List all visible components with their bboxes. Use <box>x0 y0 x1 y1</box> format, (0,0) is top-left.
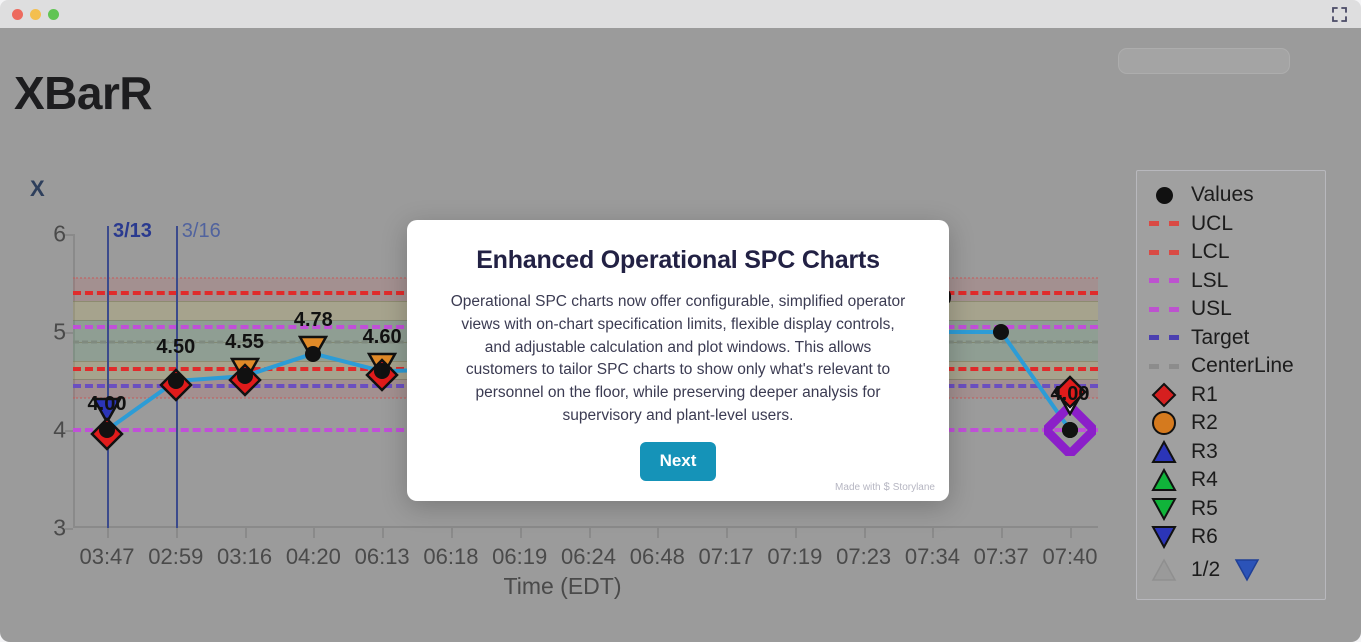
value-point[interactable] <box>168 373 184 389</box>
legend-item-label: R5 <box>1191 497 1218 521</box>
window-titlebar <box>0 0 1361 28</box>
triangle-down-icon <box>1147 499 1181 519</box>
point-value-label: 4.00 <box>1051 383 1090 406</box>
watermark-brand: Storylane <box>893 482 935 493</box>
x-axis-tick-label: 07:19 <box>767 544 822 570</box>
legend-item-label: R1 <box>1191 383 1218 407</box>
x-axis-tick-mark <box>1070 528 1072 538</box>
x-axis-tick-label: 02:59 <box>148 544 203 570</box>
modal-title: Enhanced Operational SPC Charts <box>441 246 915 275</box>
traffic-lights <box>12 9 59 20</box>
legend-item-r4[interactable]: R4 <box>1147 466 1319 495</box>
fullscreen-icon[interactable] <box>1332 7 1347 22</box>
triangle-down-blue-icon[interactable] <box>1230 560 1264 580</box>
values-dot-icon <box>1147 185 1181 205</box>
x-axis-tick-label: 03:16 <box>217 544 272 570</box>
dashed-line-icon <box>1147 356 1181 376</box>
y-axis-tick-mark <box>65 528 73 530</box>
legend-item-label: R2 <box>1191 411 1218 435</box>
value-point[interactable] <box>374 363 390 379</box>
dashed-line-icon <box>1147 271 1181 291</box>
x-axis-tick-label: 06:19 <box>492 544 547 570</box>
legend-item-label: USL <box>1191 297 1232 321</box>
legend-item-label: Target <box>1191 326 1249 350</box>
x-axis-tick-label: 06:13 <box>355 544 410 570</box>
x-axis-tick-mark <box>451 528 453 538</box>
legend-item-target[interactable]: Target <box>1147 324 1319 353</box>
legend-item-label: CenterLine <box>1191 354 1294 378</box>
value-point[interactable] <box>99 422 115 438</box>
point-value-label: 4.60 <box>363 326 402 349</box>
value-point[interactable] <box>1062 422 1078 438</box>
y-axis-title: X <box>30 176 45 202</box>
value-point[interactable] <box>305 346 321 362</box>
close-window-button[interactable] <box>12 9 23 20</box>
window-body: XBarR X Time (EDT) 3/133/16345603:4702:5… <box>0 28 1361 642</box>
legend-item-label: UCL <box>1191 212 1233 236</box>
dashed-line-icon <box>1147 214 1181 234</box>
x-axis-tick-label: 07:34 <box>905 544 960 570</box>
triangle-up-icon <box>1147 470 1181 490</box>
point-value-label: 4.00 <box>88 393 127 416</box>
legend-item-ucl[interactable]: UCL <box>1147 210 1319 239</box>
modal-body: Operational SPC charts now offer configu… <box>447 291 909 428</box>
y-axis-tick-mark <box>65 332 73 334</box>
y-axis-tick-mark <box>65 234 73 236</box>
dashed-line-icon <box>1147 242 1181 262</box>
legend-item-r2[interactable]: R2 <box>1147 409 1319 438</box>
x-axis-tick-mark <box>382 528 384 538</box>
triangle-down-icon <box>1147 527 1181 547</box>
dashed-line-icon <box>1147 299 1181 319</box>
x-axis-tick-mark <box>1001 528 1003 538</box>
onboarding-modal: Enhanced Operational SPC Charts Operatio… <box>407 220 949 501</box>
dashed-line-icon <box>1147 328 1181 348</box>
x-axis-tick-label: 07:40 <box>1042 544 1097 570</box>
app-root: XBarR X Time (EDT) 3/133/16345603:4702:5… <box>0 0 1361 642</box>
diamond-icon <box>1147 385 1181 405</box>
minimize-window-button[interactable] <box>30 9 41 20</box>
x-axis-tick-label: 06:24 <box>561 544 616 570</box>
legend-item-label: LCL <box>1191 240 1230 264</box>
x-axis-tick-mark <box>795 528 797 538</box>
legend-item-r3[interactable]: R3 <box>1147 438 1319 467</box>
legend-item-values[interactable]: Values <box>1147 181 1319 210</box>
x-axis-tick-mark <box>245 528 247 538</box>
x-axis-tick-mark <box>520 528 522 538</box>
page-title: XBarR <box>14 66 152 120</box>
next-button[interactable]: Next <box>640 442 717 481</box>
x-axis-tick-mark <box>107 528 109 538</box>
chart-legend: ValuesUCLLCLLSLUSLTargetCenterLineR1R2R3… <box>1136 170 1326 600</box>
y-axis-tick-mark <box>65 430 73 432</box>
legend-item-r6[interactable]: R6 <box>1147 523 1319 552</box>
x-axis-title: Time (EDT) <box>0 573 1125 600</box>
x-axis-tick-mark <box>657 528 659 538</box>
legend-item-label: R4 <box>1191 468 1218 492</box>
value-point[interactable] <box>237 368 253 384</box>
x-axis-tick-label: 07:37 <box>974 544 1029 570</box>
legend-item-r5[interactable]: R5 <box>1147 495 1319 524</box>
watermark-prefix: Made with <box>835 482 881 493</box>
legend-pager[interactable]: 1/2 <box>1147 556 1319 585</box>
x-axis-tick-mark <box>864 528 866 538</box>
triangle-up-gray-icon[interactable] <box>1147 560 1181 580</box>
legend-item-label: Values <box>1191 183 1254 207</box>
legend-item-lsl[interactable]: LSL <box>1147 267 1319 296</box>
value-point[interactable] <box>993 324 1009 340</box>
storylane-logo-icon: $ <box>884 481 890 493</box>
circle-icon <box>1147 413 1181 433</box>
legend-item-centerline[interactable]: CenterLine <box>1147 352 1319 381</box>
legend-item-r1[interactable]: R1 <box>1147 381 1319 410</box>
x-axis-tick-label: 07:23 <box>836 544 891 570</box>
point-value-label: 4.55 <box>225 331 264 354</box>
triangle-up-icon <box>1147 442 1181 462</box>
legend-item-label: R6 <box>1191 525 1218 549</box>
x-axis-tick-mark <box>176 528 178 538</box>
x-axis-tick-label: 06:18 <box>423 544 478 570</box>
x-axis-tick-mark <box>726 528 728 538</box>
x-axis-tick-label: 06:48 <box>630 544 685 570</box>
maximize-window-button[interactable] <box>48 9 59 20</box>
x-axis-tick-mark <box>313 528 315 538</box>
legend-item-lcl[interactable]: LCL <box>1147 238 1319 267</box>
x-axis-tick-mark <box>932 528 934 538</box>
x-axis-tick-mark <box>589 528 591 538</box>
x-axis-tick-label: 04:20 <box>286 544 341 570</box>
legend-item-label: R3 <box>1191 440 1218 464</box>
legend-page-indicator: 1/2 <box>1191 558 1220 582</box>
x-axis-tick-label: 07:17 <box>699 544 754 570</box>
toolbar-pill[interactable] <box>1118 48 1290 74</box>
point-value-label: 4.78 <box>294 309 333 332</box>
storylane-watermark: Made with $ Storylane <box>835 481 935 493</box>
legend-item-usl[interactable]: USL <box>1147 295 1319 324</box>
x-axis-tick-label: 03:47 <box>79 544 134 570</box>
legend-item-label: LSL <box>1191 269 1228 293</box>
point-value-label: 4.50 <box>156 336 195 359</box>
